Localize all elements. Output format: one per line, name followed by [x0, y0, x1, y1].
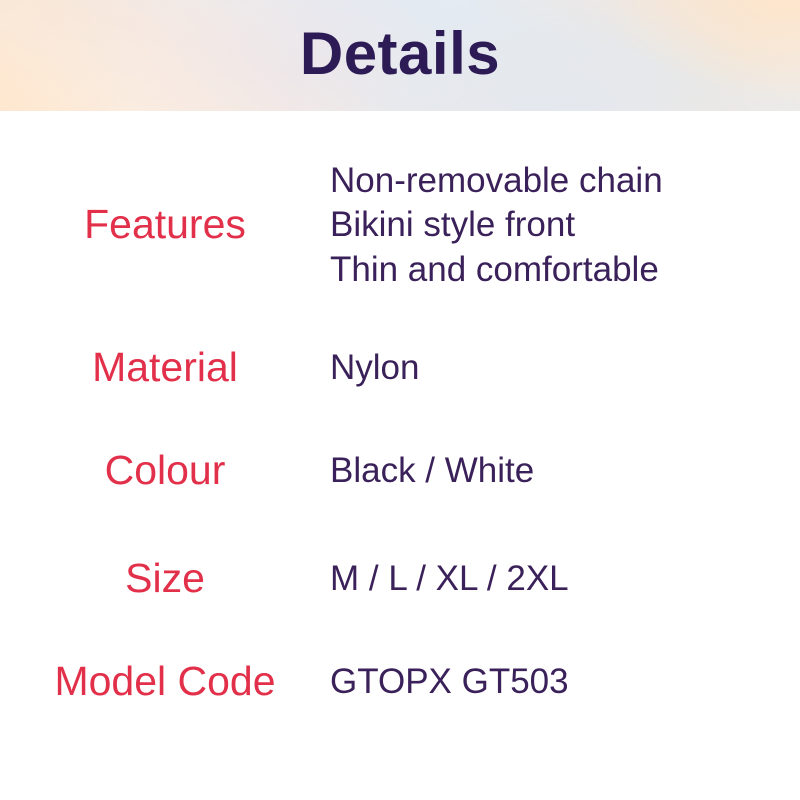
details-page: Details Features Non-removable chain Bik…: [0, 0, 800, 800]
details-table: Features Non-removable chain Bikini styl…: [0, 111, 800, 800]
detail-label-features: Features: [0, 159, 330, 246]
detail-value-line: Black / White: [330, 449, 800, 493]
detail-label-size: Size: [0, 557, 330, 600]
table-row: Colour Black / White: [0, 449, 800, 493]
detail-value-size: M / L / XL / 2XL: [330, 557, 800, 601]
detail-value-line: Thin and comfortable: [330, 248, 800, 292]
table-row: Size M / L / XL / 2XL: [0, 557, 800, 601]
detail-value-model-code: GTOPX GT503: [330, 660, 800, 704]
detail-label-model-code: Model Code: [0, 660, 330, 703]
detail-value-line: Bikini style front: [330, 203, 800, 247]
detail-value-line: M / L / XL / 2XL: [330, 557, 800, 601]
detail-value-line: Nylon: [330, 346, 800, 390]
detail-label-material: Material: [0, 346, 330, 389]
detail-value-material: Nylon: [330, 346, 800, 390]
page-title: Details: [0, 0, 800, 111]
detail-value-line: Non-removable chain: [330, 159, 800, 203]
table-row: Material Nylon: [0, 346, 800, 390]
detail-value-features: Non-removable chain Bikini style front T…: [330, 159, 800, 292]
detail-value-line: GTOPX GT503: [330, 660, 800, 704]
table-row: Model Code GTOPX GT503: [0, 660, 800, 704]
detail-value-colour: Black / White: [330, 449, 800, 493]
table-row: Features Non-removable chain Bikini styl…: [0, 159, 800, 292]
detail-label-colour: Colour: [0, 449, 330, 492]
